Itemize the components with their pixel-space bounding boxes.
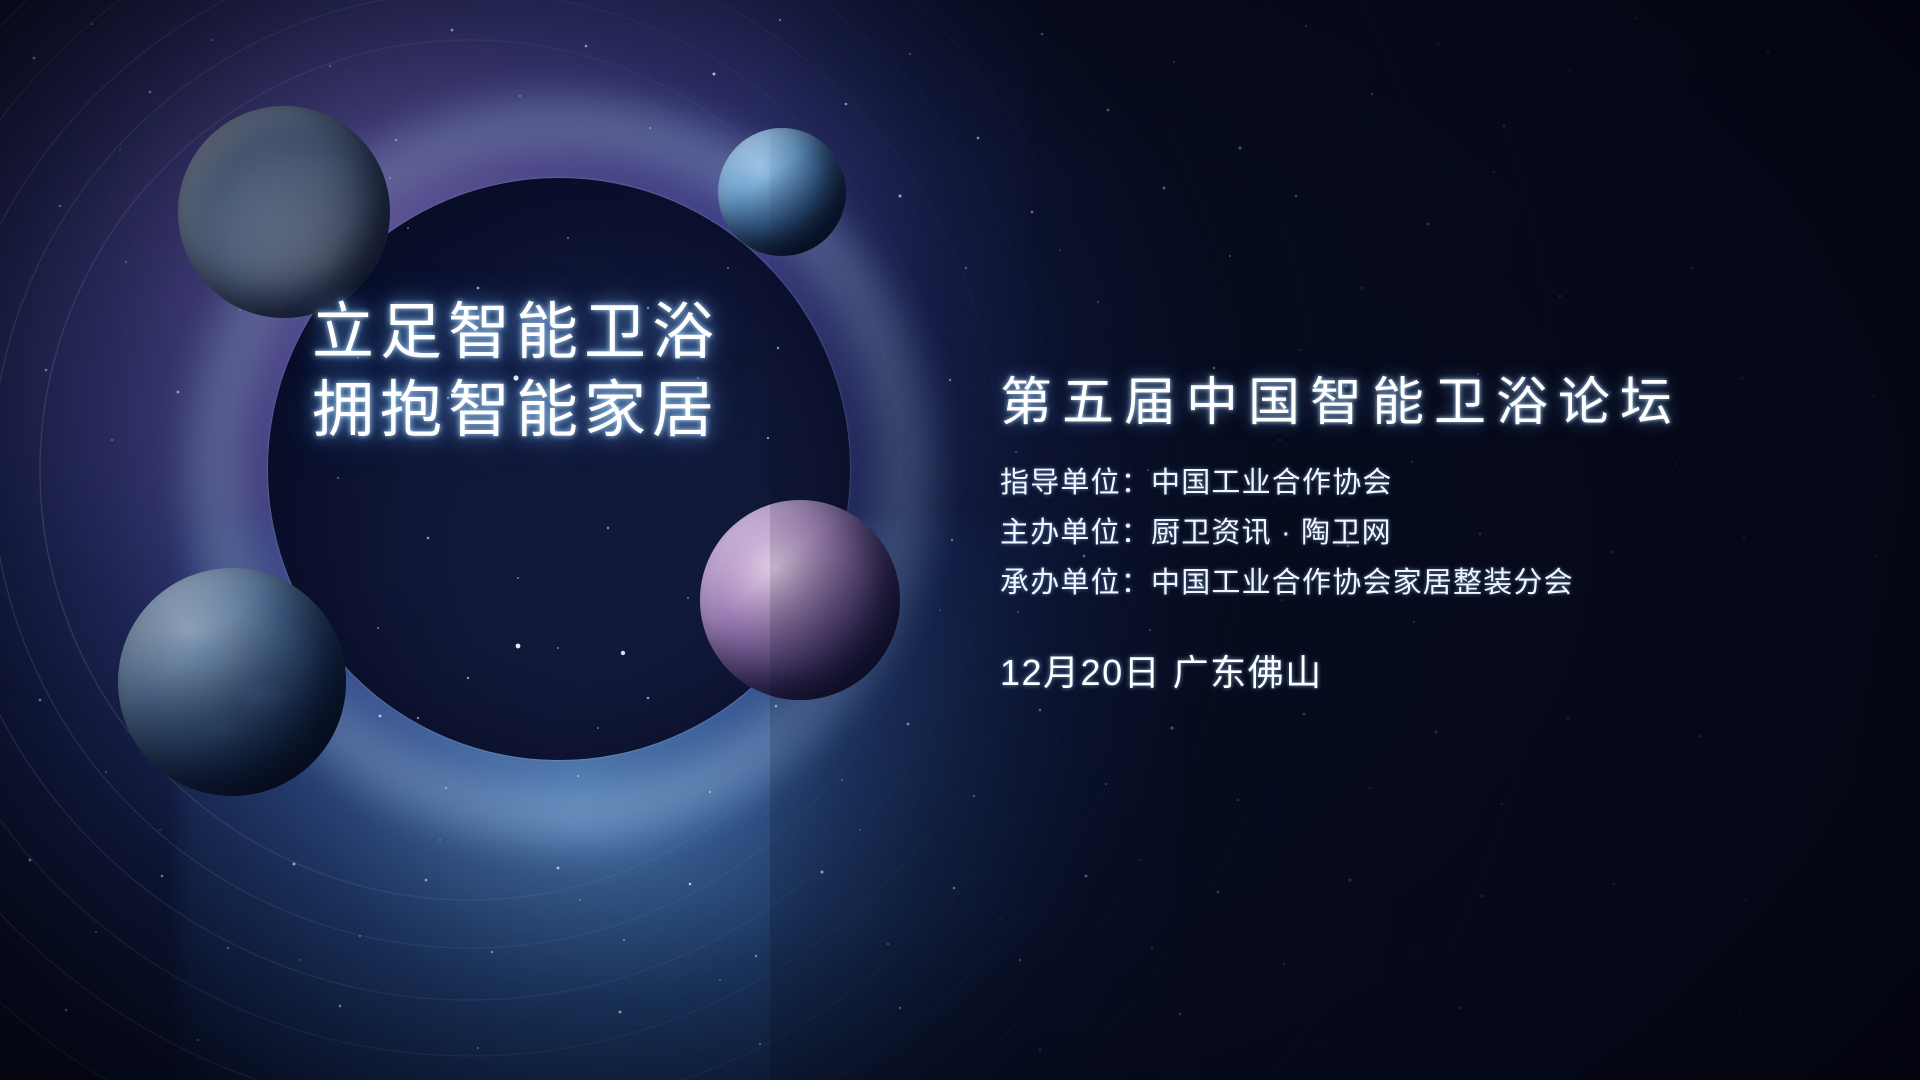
poster-canvas: 立足智能卫浴 拥抱智能家居 第五届中国智能卫浴论坛 指导单位：中国工业合作协会 … <box>0 0 1920 1080</box>
organizer-line-undertaker: 承办单位：中国工业合作协会家居整装分会 <box>1000 558 1682 608</box>
slogan-block: 立足智能卫浴 拥抱智能家居 <box>312 294 732 450</box>
date-location: 12月20日 广东佛山 <box>1000 650 1682 696</box>
planet-shadow <box>118 568 346 796</box>
info-panel: 第五届中国智能卫浴论坛 指导单位：中国工业合作协会 主办单位：厨卫资讯 · 陶卫… <box>1000 372 1682 696</box>
planet-shadow <box>178 106 390 318</box>
organizer-line-host: 主办单位：厨卫资讯 · 陶卫网 <box>1000 508 1682 558</box>
page-title: 第五届中国智能卫浴论坛 <box>1000 372 1682 434</box>
organizer-line-guidance: 指导单位：中国工业合作协会 <box>1000 458 1682 508</box>
slogan-line-1: 立足智能卫浴 <box>312 294 732 372</box>
planet-top-left <box>178 106 390 318</box>
planet-bottom-left <box>118 568 346 796</box>
slogan-line-2: 拥抱智能家居 <box>312 372 732 450</box>
